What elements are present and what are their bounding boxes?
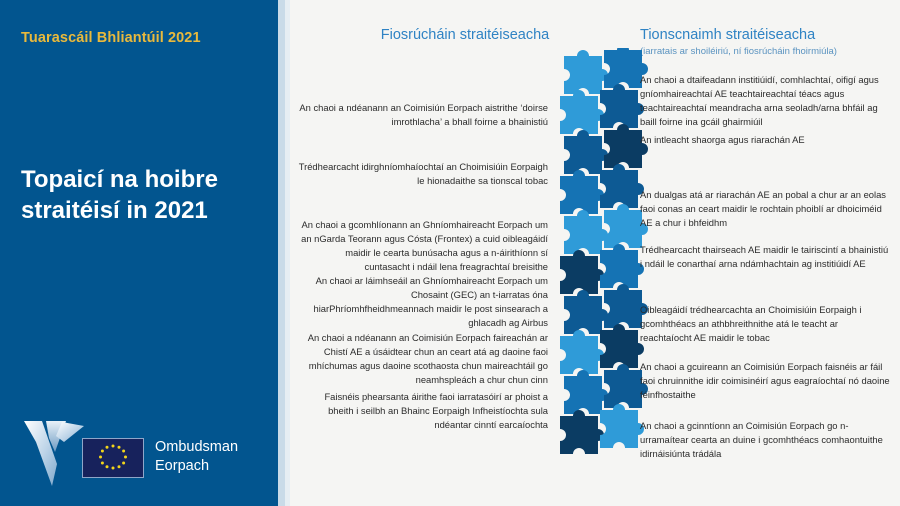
list-item: Faisnéis phearsanta áirithe faoi iarrata…: [298, 390, 548, 432]
list-item: An chaoi ar láimhseáil an Ghníomhaireach…: [298, 274, 548, 330]
report-kicker: Tuarascáil Bhliantúil 2021: [21, 30, 201, 46]
eu-flag-icon: [82, 438, 144, 478]
list-item: An chaoi a ndéanann an Coimisiún Eorpach…: [298, 331, 548, 387]
panel-edge-strip: [278, 0, 285, 506]
list-item: An chaoi a gcinntíonn an Coimisiún Eorpa…: [640, 419, 892, 461]
logo-line-2: Eorpach: [155, 457, 238, 476]
list-item: An chaoi a gcuireann an Coimisiún Eorpac…: [640, 360, 892, 402]
annual-report-slide: Tuarascáil Bhliantúil 2021 Topaicí na ho…: [0, 0, 900, 506]
list-item: An chaoi a ndéanann an Coimisiún Eorpach…: [298, 101, 548, 129]
list-item: An chaoi a gcomhlíonann an Ghníomhaireac…: [298, 218, 548, 274]
list-item: An dualgas atá ar riarachán AE an pobal …: [640, 188, 892, 230]
logo-line-1: Ombudsman: [155, 438, 238, 457]
list-item: Oibleagáidí trédhearcachta an Choimisiúi…: [640, 303, 892, 345]
european-ombudsman-logo: Ombudsman Eorpach: [22, 416, 262, 488]
page-title: Topaicí na hoibre straitéisí in 2021: [21, 165, 261, 226]
list-item: An chaoi a dtaifeadann institiúidí, comh…: [640, 73, 892, 129]
logo-wordmark: Ombudsman Eorpach: [155, 438, 238, 475]
ombudsman-v-bird-icon: [22, 416, 86, 488]
list-item: Trédhearcacht idirghníomhaíochtaí an Cho…: [298, 160, 548, 188]
list-item: An intleacht shaorga agus riarachán AE: [640, 133, 892, 147]
strategic-initiatives-column: An chaoi a dtaifeadann institiúidí, comh…: [640, 0, 898, 506]
strategic-inquiries-column: An chaoi a ndéanann an Coimisiún Eorpach…: [290, 0, 560, 506]
list-item: Trédhearcacht thairseach AE maidir le ta…: [640, 243, 892, 271]
